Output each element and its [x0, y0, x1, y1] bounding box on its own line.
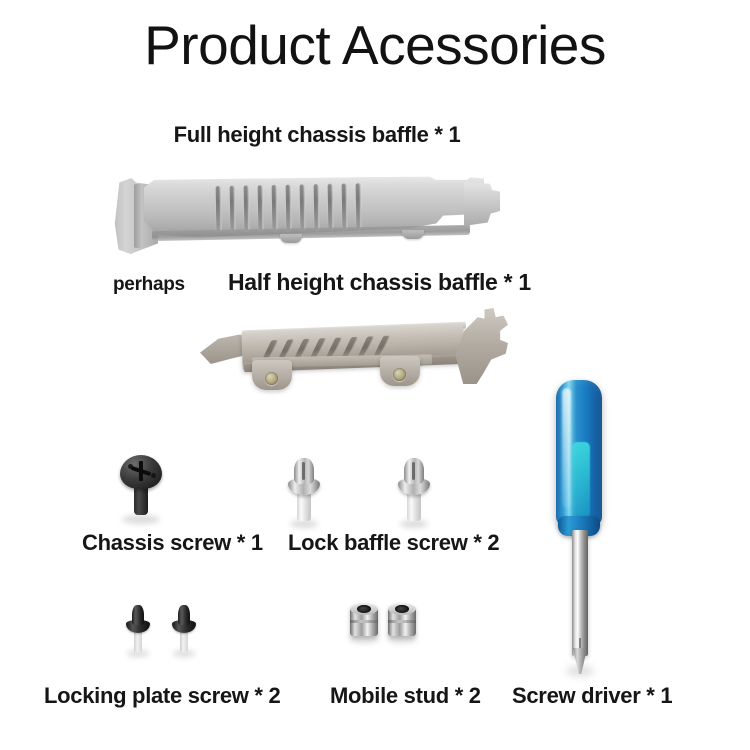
bracket-notch	[280, 234, 302, 243]
vent-slot	[230, 186, 236, 232]
vent-slot	[244, 185, 250, 231]
lock-baffle-screw-image	[288, 458, 320, 528]
vent-slot	[356, 183, 362, 229]
chassis-screw-image	[120, 455, 162, 523]
mobile-stud-image	[348, 600, 380, 644]
half-bracket-hook-end	[452, 308, 508, 384]
label-perhaps: perhaps	[113, 274, 185, 296]
screw-slot-icon	[412, 462, 415, 480]
vent-slot	[258, 185, 264, 231]
screw-shaft	[297, 491, 311, 521]
full-height-chassis-bracket-image	[112, 168, 500, 258]
locking-plate-screw-image	[172, 605, 196, 655]
bracket-vent-slots	[216, 182, 413, 232]
screw-head	[178, 605, 190, 625]
half-bracket-mount-hole	[265, 372, 278, 385]
vent-slot	[300, 184, 306, 230]
stud-groove	[388, 620, 416, 623]
bracket-flange-edge	[134, 184, 141, 248]
label-chassis-screw: Chassis screw * 1	[82, 530, 263, 556]
screw-head	[132, 605, 144, 625]
screwdriver-handle-highlight	[562, 388, 571, 508]
screw-shadow	[290, 520, 318, 528]
screw-shaft	[134, 630, 142, 652]
label-screw-driver: Screw driver * 1	[512, 683, 672, 709]
stud-shadow	[387, 635, 417, 643]
screwdriver-handle-core	[572, 442, 590, 518]
screwdriver-image	[548, 380, 614, 680]
label-lock-baffle-screw: Lock baffle screw * 2	[288, 530, 499, 556]
stud-shadow	[349, 635, 379, 643]
stud-groove	[350, 620, 378, 623]
page-title: Product Acessories	[0, 18, 750, 73]
vent-slot	[272, 185, 278, 231]
screw-slot-icon	[302, 462, 305, 480]
screw-shaft	[180, 630, 188, 652]
screw-shaft	[134, 485, 148, 515]
stud-thread-hole	[395, 605, 409, 613]
half-height-chassis-bracket-image	[200, 306, 510, 396]
label-full-height-chassis-baffle: Full height chassis baffle * 1	[0, 122, 692, 148]
vent-slot	[342, 183, 348, 229]
bracket-right-tab	[464, 182, 500, 226]
mobile-stud-image	[386, 600, 418, 644]
label-mobile-stud: Mobile stud * 2	[330, 683, 481, 709]
screw-shadow	[400, 520, 428, 528]
locking-plate-screw-image	[126, 605, 150, 655]
screw-head-dimple	[151, 473, 156, 478]
half-bracket-mount-hole	[393, 368, 406, 381]
stud-thread-hole	[357, 605, 371, 613]
screw-shaft	[407, 491, 421, 521]
vent-slot	[314, 184, 320, 230]
vent-slot	[216, 186, 222, 232]
lock-baffle-screw-image	[398, 458, 430, 528]
label-half-height-chassis-baffle: Half height chassis baffle * 1	[228, 269, 531, 296]
label-locking-plate-screw: Locking plate screw * 2	[44, 683, 280, 709]
product-accessories-image: Product Acessories Full height chassis b…	[0, 0, 750, 750]
bracket-notch	[402, 230, 424, 239]
screw-shadow	[122, 515, 160, 524]
vent-slot	[286, 184, 292, 230]
vent-slot	[328, 184, 334, 230]
